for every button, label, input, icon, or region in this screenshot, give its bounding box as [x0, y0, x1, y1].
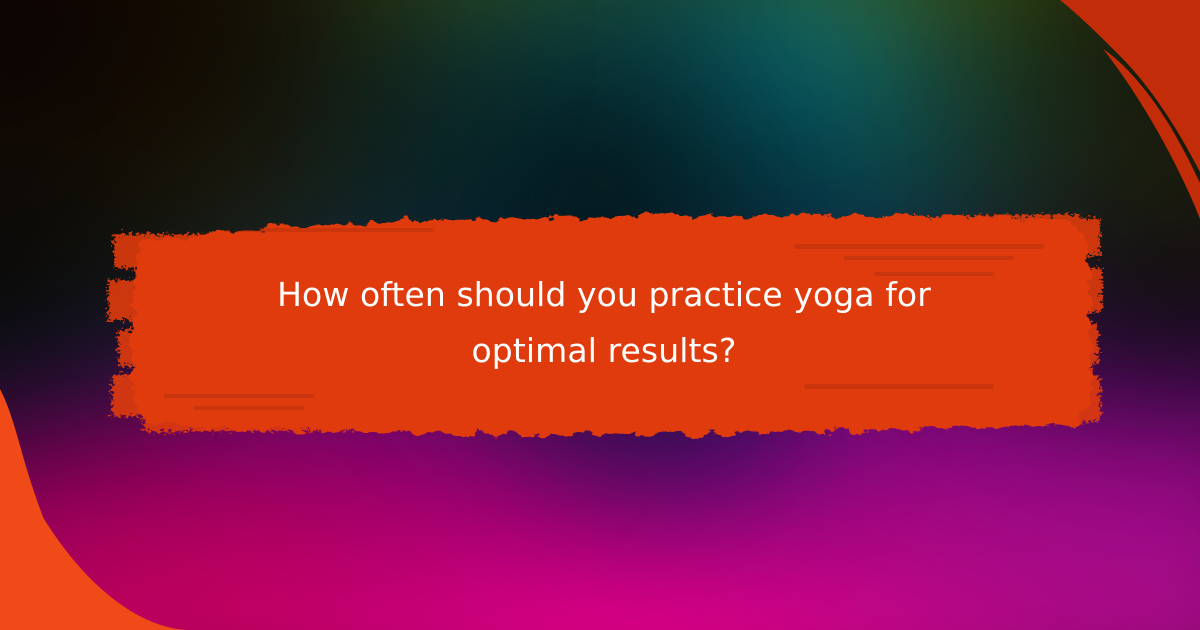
headline-banner: How often should you practice yoga for o… — [104, 198, 1104, 442]
share-card: How often should you practice yoga for o… — [0, 0, 1200, 630]
orange-swoosh-top-right-sliver — [1103, 49, 1200, 219]
headline-line-1: How often should you practice yoga for — [277, 268, 931, 322]
orange-swoosh-bottom-left-sliver — [0, 389, 72, 590]
orange-swoosh-top-right-main — [1060, 0, 1200, 172]
headline-line-2: optimal results? — [472, 324, 737, 378]
orange-swoosh-bottom-left-main — [0, 430, 186, 630]
headline-text-block: How often should you practice yoga for o… — [104, 198, 1104, 442]
